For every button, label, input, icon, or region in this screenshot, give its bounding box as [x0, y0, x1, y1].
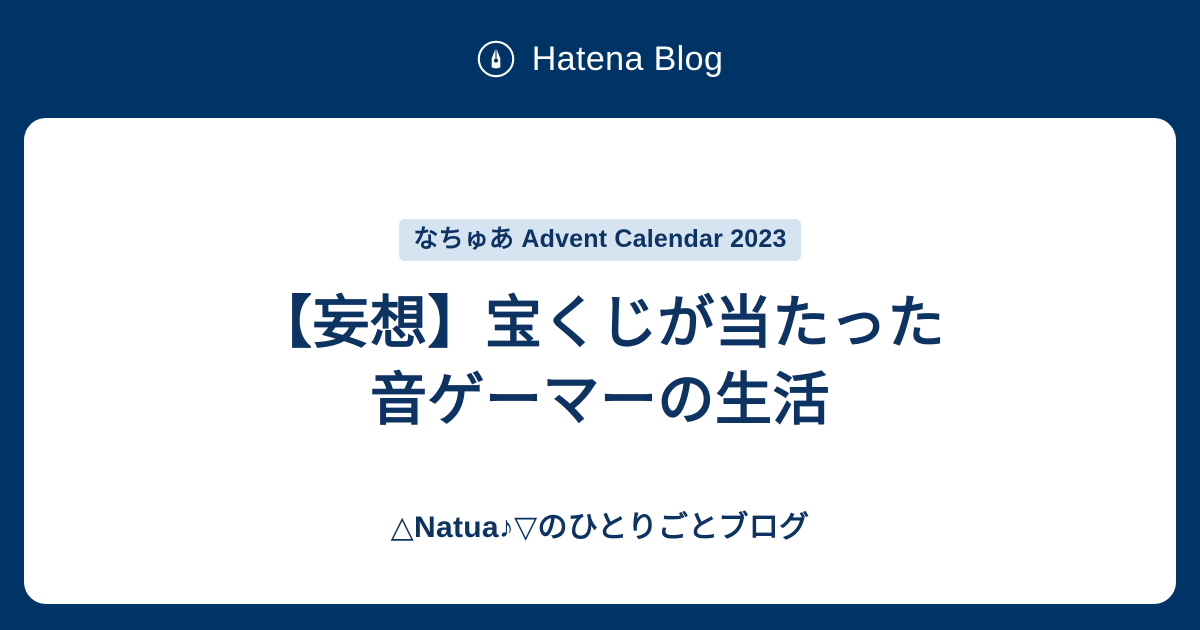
category-badge[interactable]: なちゅあ Advent Calendar 2023 — [399, 219, 800, 261]
entry-title-line-1: 【妄想】宝くじが当たった — [255, 291, 945, 355]
blog-name[interactable]: △Natua♪▽のひとりごとブログ — [24, 509, 1176, 547]
ogp-card-root: Hatena Blog なちゅあ Advent Calendar 2023 【妄… — [0, 0, 1200, 630]
entry-title-line-2: 音ゲーマーの生活 — [370, 368, 830, 432]
service-header: Hatena Blog — [0, 0, 1200, 118]
entry-title: 【妄想】宝くじが当たった音ゲーマーの生活 — [215, 285, 985, 439]
service-name-label: Hatena Blog — [532, 40, 724, 78]
entry-card: なちゅあ Advent Calendar 2023 【妄想】宝くじが当たった音ゲ… — [24, 118, 1176, 604]
entry-card-inner: なちゅあ Advent Calendar 2023 【妄想】宝くじが当たった音ゲ… — [24, 118, 1176, 604]
hatena-blog-logo[interactable]: Hatena Blog — [477, 40, 724, 78]
pen-nib-in-circle-icon — [477, 40, 515, 78]
